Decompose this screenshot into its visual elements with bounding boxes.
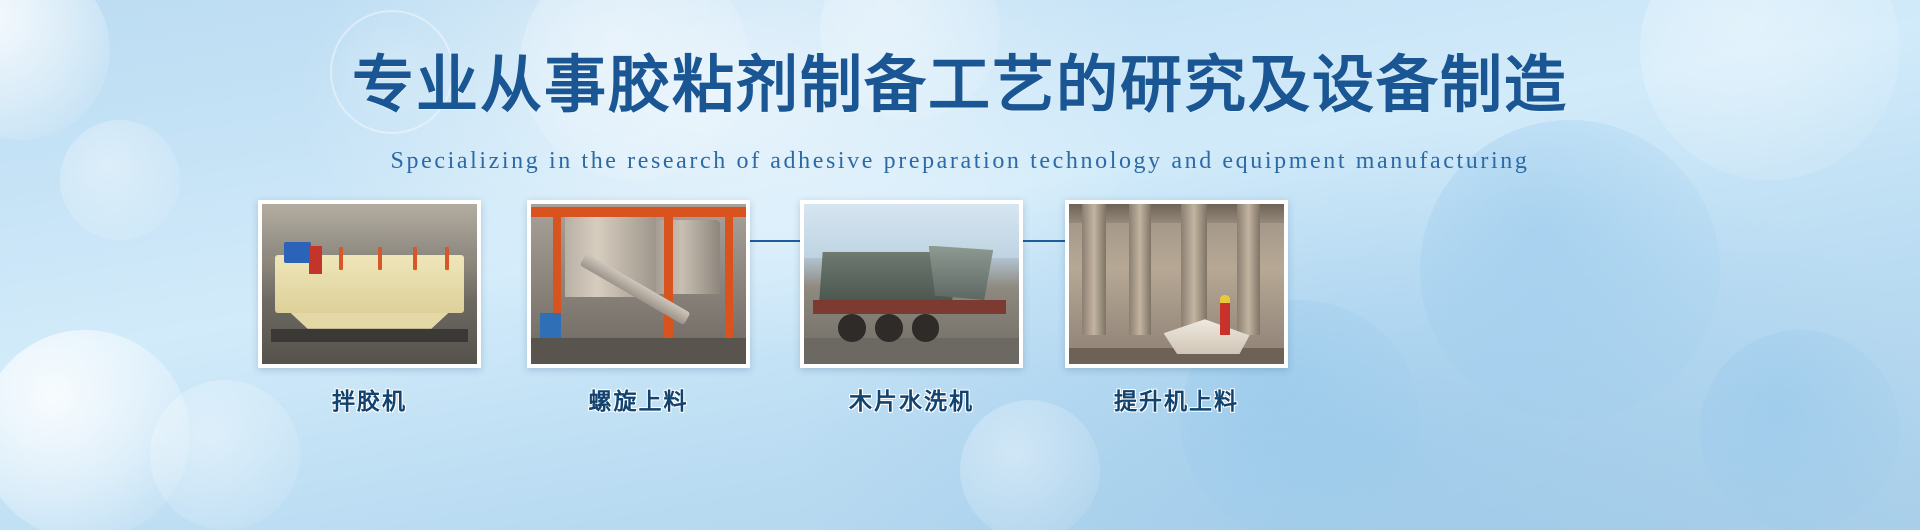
wood-chip-washer-photo — [804, 204, 1019, 364]
connector-line-1 — [742, 240, 800, 242]
promo-banner: 专业从事胶粘剂制备工艺的研究及设备制造 Specializing in the … — [0, 0, 1920, 530]
glue-mixer-photo — [262, 204, 477, 364]
banner-headline: 专业从事胶粘剂制备工艺的研究及设备制造 — [0, 55, 1920, 117]
banner-subtitle: Specializing in the research of adhesive… — [0, 148, 1920, 175]
process-card-4-caption: 提升机上料 — [1065, 382, 1288, 416]
process-card-3-caption: 木片水洗机 — [800, 382, 1023, 416]
process-card-1[interactable] — [258, 200, 481, 368]
process-photo-strip: 拌胶机 螺旋上料 木片水洗机 提升机上料 — [0, 200, 1920, 450]
process-card-1-caption: 拌胶机 — [258, 382, 481, 416]
process-card-4[interactable] — [1065, 200, 1288, 368]
elevator-feeder-photo — [1069, 204, 1284, 364]
process-card-2[interactable] — [527, 200, 750, 368]
spiral-feeder-photo — [531, 204, 746, 364]
process-card-3[interactable] — [800, 200, 1023, 368]
process-card-2-caption: 螺旋上料 — [527, 382, 750, 416]
